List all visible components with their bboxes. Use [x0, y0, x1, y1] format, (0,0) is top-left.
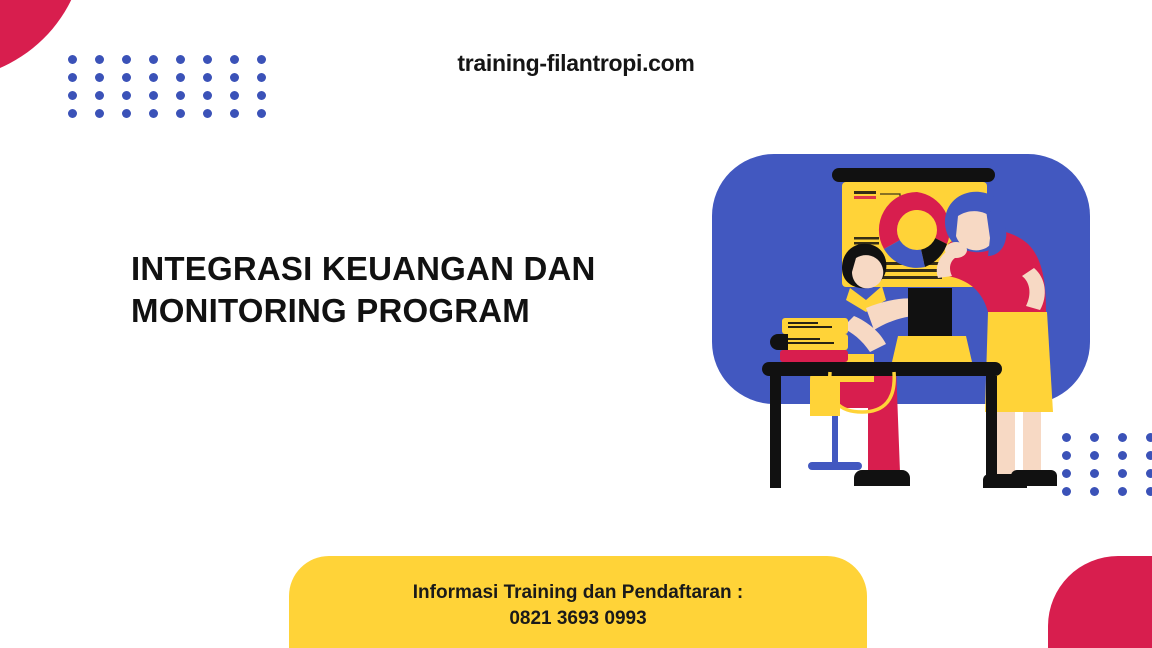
poster-canvas: training-filantropi.com INTEGRASI KEUANG… — [0, 0, 1152, 648]
dot — [1146, 487, 1152, 496]
dot — [1090, 487, 1099, 496]
dot — [68, 109, 77, 118]
dot — [1118, 433, 1127, 442]
dot — [149, 109, 158, 118]
dot — [176, 109, 185, 118]
cta-info-label: Informasi Training dan Pendaftaran : — [413, 580, 743, 606]
dot — [1118, 451, 1127, 460]
dot — [176, 91, 185, 100]
dot — [68, 91, 77, 100]
cta-banner: Informasi Training dan Pendaftaran : 082… — [289, 556, 867, 648]
cta-phone-number: 0821 3693 0993 — [509, 606, 646, 632]
dot — [95, 109, 104, 118]
dot — [1090, 433, 1099, 442]
board-top-bar — [832, 168, 995, 182]
dot — [1146, 451, 1152, 460]
dot — [1118, 469, 1127, 478]
dot — [230, 91, 239, 100]
corner-red-bottom-right-shape — [1048, 556, 1152, 648]
dot — [1090, 451, 1099, 460]
dot — [1146, 469, 1152, 478]
training-illustration — [690, 140, 1090, 510]
dot — [122, 91, 131, 100]
dot — [1090, 469, 1099, 478]
dot — [95, 91, 104, 100]
page-title-line-1: INTEGRASI KEUANGAN DAN — [131, 248, 651, 290]
dot — [122, 109, 131, 118]
site-url-text: training-filantropi.com — [0, 50, 1152, 77]
page-title: INTEGRASI KEUANGAN DAN MONITORING PROGRA… — [131, 248, 651, 331]
dot — [1118, 487, 1127, 496]
dot — [230, 109, 239, 118]
dot — [149, 91, 158, 100]
dot — [257, 91, 266, 100]
dot — [203, 91, 212, 100]
dot — [1146, 433, 1152, 442]
dot — [203, 109, 212, 118]
page-title-line-2: MONITORING PROGRAM — [131, 290, 651, 332]
dot — [257, 109, 266, 118]
